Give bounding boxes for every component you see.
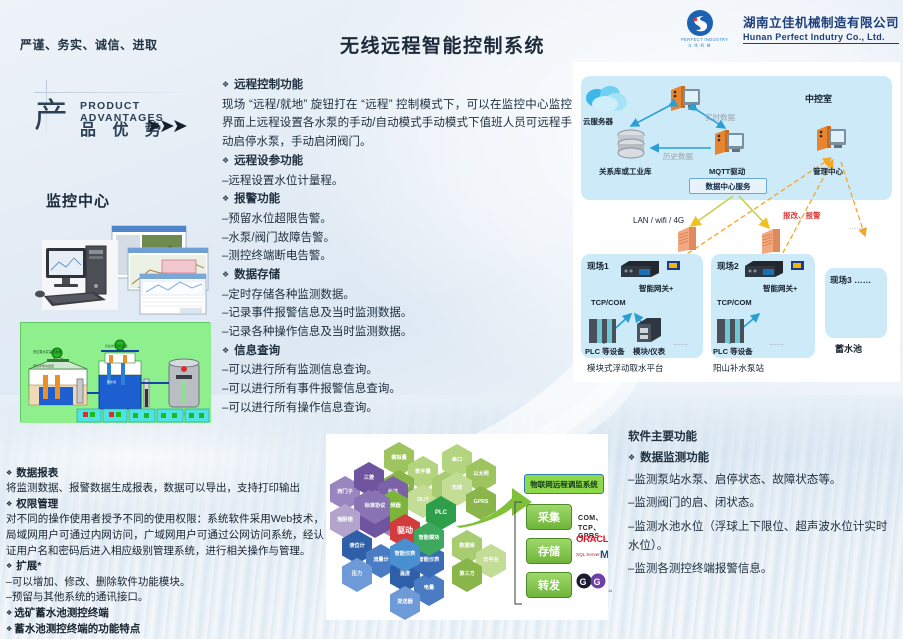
- swfn-heading: 数据监测功能: [628, 450, 896, 468]
- swfn-item: 监测阀门的启、闭状态。: [628, 494, 896, 513]
- reservoir-label: 蓄水池: [835, 342, 862, 355]
- brand-text: 湖南立佳机械制造有限公司 Hunan Perfect Indutry Co., …: [743, 12, 899, 44]
- brand-name-cn: 湖南立佳机械制造有限公司: [743, 12, 899, 31]
- mqtt-driver-label: MQTT驱动: [709, 166, 745, 177]
- bl-item: 预留与其他系统的通讯接口。: [6, 590, 324, 606]
- company-logo-icon: PERFECT INDUSTRY 立 佳 机 械: [678, 8, 736, 48]
- bullet-item: 水泵/阀门故障告警。: [222, 229, 572, 248]
- divider-horizontal: [34, 92, 194, 93]
- protocol1-label: TCP/COM: [591, 298, 626, 307]
- bl-paragraph: 对不同的操作使用者授予不同的使用权限：系统软件采用Web技术，局域网用户可通过内…: [6, 512, 324, 559]
- site3-label: 现场3 ……: [830, 274, 871, 286]
- bullet-item: 可以进行所有事件报警信息查询。: [222, 380, 572, 399]
- bullet-paragraph: 现场 “远程/就地” 旋钮打在 “远程” 控制模式下，可以在监控中心监控界面上远…: [222, 96, 572, 152]
- bl-heading: 选矿蓄水池测控终端: [6, 606, 324, 622]
- storage-logos: ORACLE SQL Server My SQL: [576, 532, 608, 568]
- svg-text:立 佳 机 械: 立 佳 机 械: [688, 43, 711, 48]
- software-functions-list: 数据监测功能监测泵站水泵、启停状态、故障状态等。监测阀门的启、闭状态。监测水池水…: [628, 450, 896, 579]
- bullet-item: 可以进行所有操作信息查询。: [222, 399, 572, 418]
- plc-icon-1: [587, 316, 617, 346]
- bl-heading: 扩展*: [6, 559, 324, 574]
- bl-item: 可以增加、修改、删除软件功能模块。: [6, 575, 324, 591]
- iot-hex-diagram: 模拟量 数字量 Modbus DL/T 规约 串口 以太网 无线 GPRS 西门…: [326, 434, 608, 620]
- product-advantages-badge: 产 PRODUCT ADVANTAGES 品 优 势 ➤➤➤: [18, 78, 208, 150]
- gateway-icon-2: [743, 258, 785, 280]
- svg-text:Java: Java: [608, 588, 612, 593]
- svg-text:G: G: [594, 577, 601, 587]
- bullet-item: 可以进行所有监测信息查询。: [222, 361, 572, 380]
- signal-badge-2: [791, 261, 804, 270]
- svg-text:My: My: [600, 549, 608, 561]
- realtime-data-label: 实时数据: [705, 112, 735, 123]
- swfn-item: 监测各测控终端报警信息。: [628, 560, 896, 579]
- router-icon-1: [675, 224, 701, 254]
- module1-label: 模块/仪表: [633, 346, 665, 357]
- bullet-item: 预留水位超限告警。: [222, 210, 572, 229]
- site2-dots: ……: [769, 338, 784, 347]
- data-center-service-chip: 数据中心服务: [689, 178, 767, 194]
- plc2-label: PLC 等设备: [713, 346, 753, 357]
- management-center-label: 管理中心: [813, 166, 843, 177]
- bullet-item: 测控终端断电告警。: [222, 247, 572, 266]
- site1-caption: 模块式浮动取水平台: [587, 362, 664, 374]
- bl-heading: 权限管理: [6, 497, 324, 512]
- bullet-item: 远程设置水位计量程。: [222, 172, 572, 191]
- bullet-item: 记录各种操作信息及当时监测数据。: [222, 323, 572, 342]
- site1-label: 现场1: [587, 260, 609, 272]
- bullet-heading: 远程控制功能: [222, 77, 572, 95]
- brand-block: PERFECT INDUSTRY 立 佳 机 械 湖南立佳机械制造有限公司 Hu…: [678, 7, 900, 49]
- svg-text:蓄水池: 蓄水池: [107, 379, 116, 384]
- forward-button[interactable]: 转发: [526, 572, 572, 598]
- protocol2-label: TCP/COM: [717, 298, 752, 307]
- site1-dots: ……: [673, 338, 688, 347]
- alarm-label: 报改、报警: [783, 210, 821, 221]
- collect-button[interactable]: 采集: [526, 504, 572, 530]
- company-slogan: 严谨、务实、诚信、进取: [20, 36, 158, 53]
- bullet-heading: 信息查询: [222, 343, 572, 361]
- iot-system-chip: 物联网远程调监系统: [524, 474, 604, 494]
- bullet-item: 定时存储各种监测数据。: [222, 286, 572, 305]
- history-data-label: 历史数据: [663, 151, 693, 162]
- svg-text:低位水泵房监控: 低位水泵房监控: [33, 363, 54, 368]
- monitoring-center-title: 监控中心: [46, 190, 110, 211]
- bullet-heading: 报警功能: [222, 191, 572, 209]
- gateway1-label: 智能网关+: [639, 283, 673, 294]
- page-title: 无线远程智能控制系统: [340, 31, 545, 58]
- module-icon-1: [635, 316, 663, 344]
- svg-text:ORACLE: ORACLE: [576, 534, 608, 545]
- site2-label: 现场2: [717, 260, 739, 272]
- bl-paragraph: 将监测数据、报警数据生成报表，数据可以导出，支持打印输出: [6, 481, 324, 497]
- site2-caption: 阳山补水泵站: [713, 362, 764, 374]
- chevron-right-icon: ➤➤➤: [146, 115, 185, 138]
- svg-text:低位集水井监控画面: 低位集水井监控画面: [33, 349, 62, 354]
- bullet-item: 记录事件报警信息及当时监测数据。: [222, 304, 572, 323]
- swfn-item: 监测泵站水泵、启停状态、故障状态等。: [628, 471, 896, 490]
- bl-heading: 蓄水池测控终端的功能特点: [6, 622, 324, 638]
- swfn-item: 监测水池水位（浮球上下限位、超声波水位计实时水位）。: [628, 518, 896, 555]
- monitoring-center-photo: [20, 222, 210, 317]
- brand-name-en: Hunan Perfect Indutry Co., Ltd.: [743, 32, 899, 44]
- signal-badge-1: [667, 261, 680, 270]
- router-icon-2: [759, 226, 785, 256]
- bottom-left-text-block: 数据报表将监测数据、报警数据生成报表，数据可以导出，支持打印输出权限管理对不同的…: [6, 466, 324, 638]
- hmi-screen-image: 低位集水井监控画面 低位水泵房监控 高位水池监控画面 蓄水池: [20, 322, 210, 422]
- plc-icon-2: [715, 316, 745, 346]
- svg-text:G: G: [580, 577, 587, 587]
- bullet-heading: 远程设参功能: [222, 153, 572, 171]
- pa-glyph: 产: [34, 100, 68, 134]
- feature-bullet-list: 远程控制功能现场 “远程/就地” 旋钮打在 “远程” 控制模式下，可以在监控中心…: [222, 76, 572, 417]
- software-functions-block: 软件主要功能 数据监测功能监测泵站水泵、启停状态、故障状态等。监测阀门的启、闭状…: [628, 428, 896, 584]
- network-architecture-diagram: 中控室 云服务器: [573, 62, 900, 382]
- svg-text:高位水池监控画面: 高位水池监控画面: [105, 344, 128, 348]
- storage-button[interactable]: 存储: [526, 538, 572, 564]
- bl-heading: 数据报表: [6, 466, 324, 481]
- bracket-icon: [512, 500, 524, 608]
- plc1-label: PLC 等设备: [585, 346, 625, 357]
- slide-canvas: 严谨、务实、诚信、进取 无线远程智能控制系统 PERFECT INDUSTRY …: [0, 0, 903, 639]
- gateway-icon-1: [619, 258, 661, 280]
- dots-right: ……: [849, 222, 864, 231]
- software-functions-title: 软件主要功能: [628, 428, 896, 444]
- svg-text:SQL Server: SQL Server: [576, 552, 600, 557]
- bullet-heading: 数据存储: [222, 267, 572, 285]
- svg-text:PERFECT INDUSTRY: PERFECT INDUSTRY: [681, 37, 728, 42]
- forward-logos: G G Java O PC OPC UA: [576, 568, 612, 598]
- gateway2-label: 智能网关+: [763, 283, 797, 294]
